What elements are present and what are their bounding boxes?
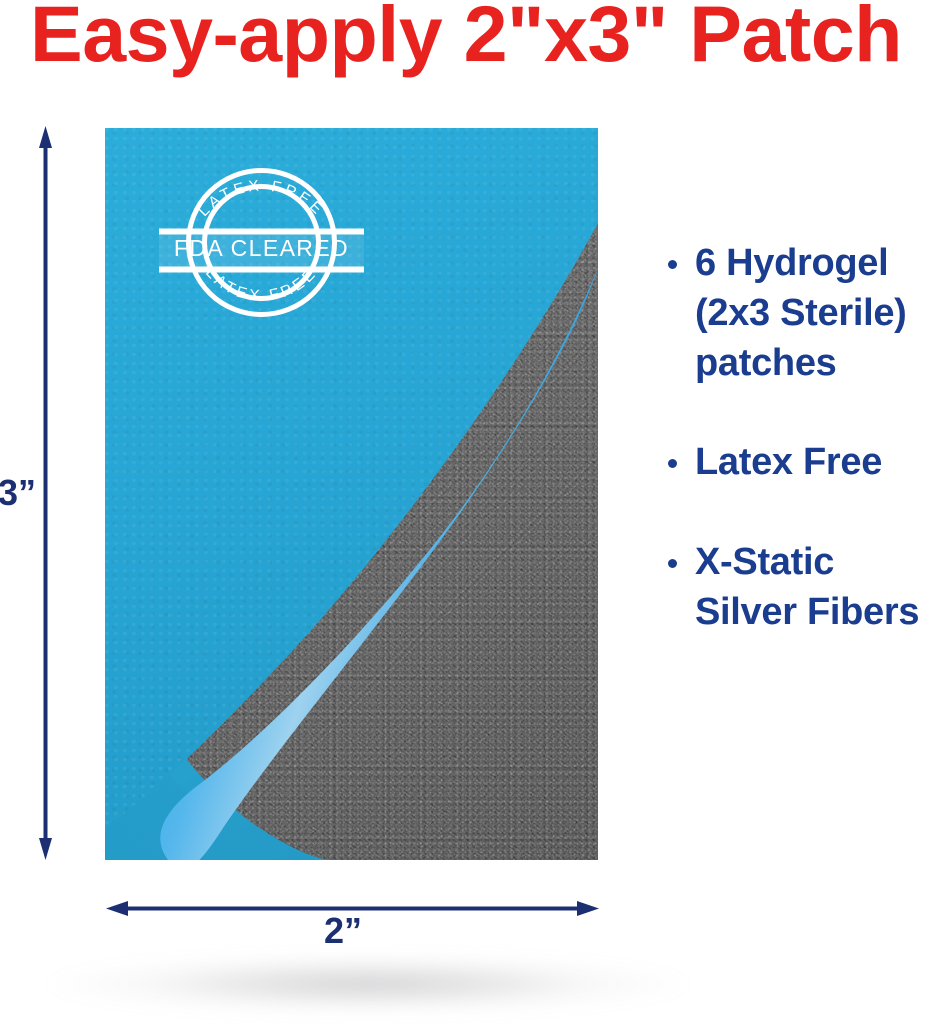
badge-bar-bottom bbox=[159, 267, 364, 273]
height-dimension-label: 3” bbox=[0, 472, 36, 514]
bullet-dot-icon bbox=[668, 459, 677, 468]
bullet-dot-icon bbox=[668, 260, 677, 269]
feature-text: Latex Free bbox=[695, 437, 882, 487]
bullet-dot-icon bbox=[668, 559, 677, 568]
list-item: X-Static Silver Fibers bbox=[668, 537, 944, 637]
height-dimension-arrow bbox=[39, 126, 52, 860]
list-item: Latex Free bbox=[668, 437, 944, 487]
page-title: Easy-apply 2"x3" Patch bbox=[30, 0, 902, 73]
feature-text: 6 Hydrogel (2x3 Sterile) patches bbox=[695, 238, 944, 388]
fda-cleared-badge: LATEX FREE LATEX FREE FDA CLEARED bbox=[160, 166, 363, 319]
badge-bar-top bbox=[159, 229, 364, 235]
list-item: 6 Hydrogel (2x3 Sterile) patches bbox=[668, 238, 944, 388]
feature-list: 6 Hydrogel (2x3 Sterile) patches Latex F… bbox=[668, 238, 944, 637]
feature-text: X-Static Silver Fibers bbox=[695, 537, 944, 637]
width-dimension-label: 2” bbox=[324, 910, 362, 952]
badge-center-text: FDA CLEARED bbox=[174, 235, 349, 261]
product-drop-shadow bbox=[38, 952, 698, 1016]
product-image: LATEX FREE LATEX FREE FDA CLEARED bbox=[105, 128, 598, 860]
